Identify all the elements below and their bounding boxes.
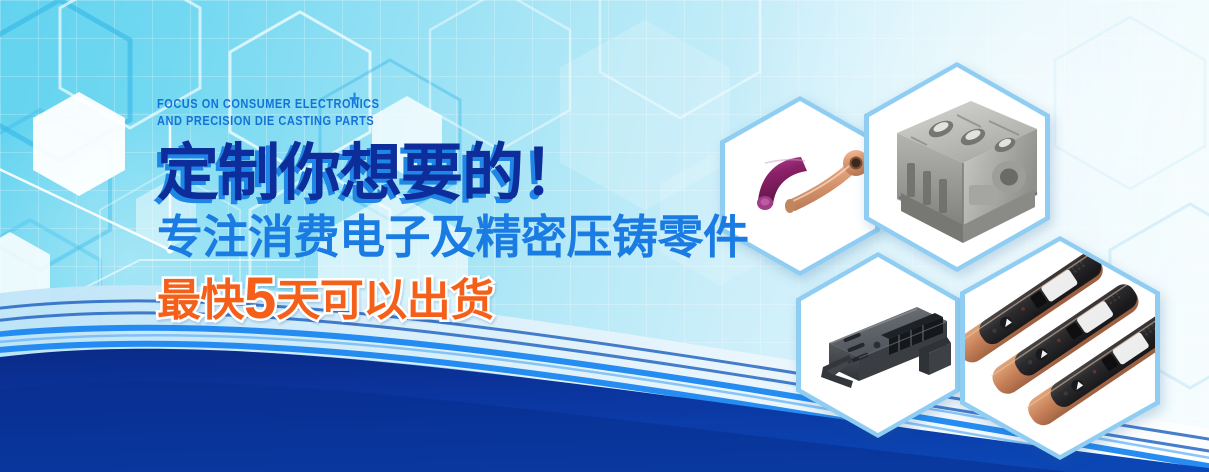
product-hex-copper-black-housing-panels[interactable] (960, 236, 1160, 460)
hexagon-solid-left (33, 92, 125, 196)
headline-primary: 定制你想要的！ (157, 143, 749, 205)
headline-tertiary: 最快5天可以出货 (157, 270, 749, 328)
eyebrow-line-1: FOCUS ON CONSUMER ELECTRONICS (157, 96, 678, 113)
headline-secondary: 专注消费电子及精密压铸零件 (157, 214, 749, 260)
copper-black-housing-panels-icon (965, 241, 1155, 455)
lead-time-suffix: 天可以出货 (276, 276, 494, 325)
lead-time-days: 5 (244, 266, 276, 331)
eyebrow-line-2: AND PRECISION DIE CASTING PARTS (157, 113, 678, 130)
headline-block: FOCUS ON CONSUMER ELECTRONICS AND PRECIS… (157, 96, 749, 328)
promo-banner: FOCUS ON CONSUMER ELECTRONICS AND PRECIS… (0, 0, 1209, 472)
product-hex-dark-gray-die-cast-enclosure[interactable] (796, 252, 960, 438)
eyebrow-text: FOCUS ON CONSUMER ELECTRONICS AND PRECIS… (157, 96, 678, 130)
lead-time-prefix: 最快 (157, 276, 244, 325)
plus-icon: + (349, 88, 361, 110)
hex-inner (965, 241, 1155, 455)
